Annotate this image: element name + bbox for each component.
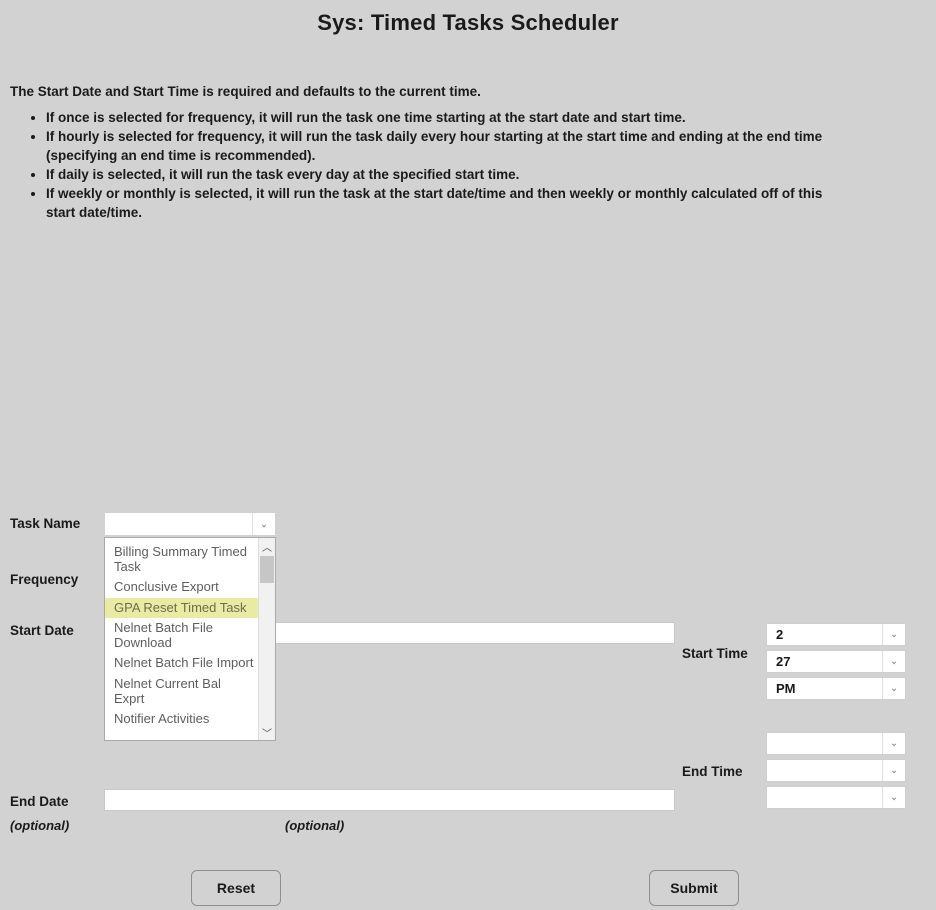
intro-note: The Start Date and Start Time is require… xyxy=(0,36,936,99)
dropdown-option[interactable]: Notifier Activities xyxy=(105,709,258,730)
task-name-label: Task Name xyxy=(10,516,80,531)
task-name-select[interactable]: ⌄ xyxy=(104,512,276,536)
end-time-label: End Time xyxy=(682,764,743,779)
end-time-minute-select[interactable]: ⌄ xyxy=(766,759,906,782)
chevron-down-icon: ⌄ xyxy=(882,624,905,645)
start-time-minute-select[interactable]: 27 ⌄ xyxy=(766,650,906,673)
rule-item: If weekly or monthly is selected, it wil… xyxy=(46,185,826,222)
chevron-down-icon: ⌄ xyxy=(252,513,275,535)
start-time-ampm-select[interactable]: PM ⌄ xyxy=(766,677,906,700)
chevron-down-icon: ⌄ xyxy=(882,678,905,699)
rules-list: If once is selected for frequency, it wi… xyxy=(0,109,826,222)
start-time-hour-value: 2 xyxy=(767,627,882,642)
start-time-label: Start Time xyxy=(682,646,748,661)
end-time-optional-label: (optional) xyxy=(285,818,344,833)
dropdown-option[interactable]: Nelnet Current Bal Exprt xyxy=(105,674,258,709)
dropdown-scrollbar[interactable]: ︿ ﹀ xyxy=(258,538,275,740)
submit-button[interactable]: Submit xyxy=(649,870,739,906)
end-date-optional-label: (optional) xyxy=(10,818,69,833)
frequency-label: Frequency xyxy=(10,572,78,587)
button-row: Reset Submit xyxy=(0,870,936,910)
dropdown-option[interactable]: Nelnet Batch File Import xyxy=(105,653,258,674)
start-time-ampm-value: PM xyxy=(767,681,882,696)
dropdown-option-selected[interactable]: GPA Reset Timed Task xyxy=(105,598,258,619)
page-title: Sys: Timed Tasks Scheduler xyxy=(0,0,936,36)
rule-item: If daily is selected, it will run the ta… xyxy=(46,166,826,184)
end-date-label: End Date xyxy=(10,794,69,809)
chevron-down-icon: ⌄ xyxy=(882,787,905,808)
rule-item: If hourly is selected for frequency, it … xyxy=(46,128,826,165)
dropdown-option[interactable]: Nelnet Batch File Download xyxy=(105,618,258,653)
chevron-down-icon: ⌄ xyxy=(882,651,905,672)
reset-button[interactable]: Reset xyxy=(191,870,281,906)
end-time-hour-select[interactable]: ⌄ xyxy=(766,732,906,755)
dropdown-option[interactable]: Billing Summary Timed Task xyxy=(105,542,258,577)
task-name-dropdown-list[interactable]: Billing Summary Timed Task Conclusive Ex… xyxy=(104,537,276,741)
end-time-ampm-select[interactable]: ⌄ xyxy=(766,786,906,809)
chevron-down-icon: ⌄ xyxy=(882,733,905,754)
start-time-hour-select[interactable]: 2 ⌄ xyxy=(766,623,906,646)
start-date-label: Start Date xyxy=(10,623,74,638)
scroll-down-icon[interactable]: ﹀ xyxy=(259,724,275,740)
scheduler-form: Task Name Frequency Start Date End Date … xyxy=(0,248,936,648)
dropdown-option[interactable]: Conclusive Export xyxy=(105,577,258,598)
scroll-up-icon[interactable]: ︿ xyxy=(259,538,275,554)
end-date-input[interactable] xyxy=(104,789,675,811)
scrollbar-thumb[interactable] xyxy=(260,556,274,583)
rule-item: If once is selected for frequency, it wi… xyxy=(46,109,826,127)
start-time-minute-value: 27 xyxy=(767,654,882,669)
chevron-down-icon: ⌄ xyxy=(882,760,905,781)
dropdown-options: Billing Summary Timed Task Conclusive Ex… xyxy=(105,538,258,740)
